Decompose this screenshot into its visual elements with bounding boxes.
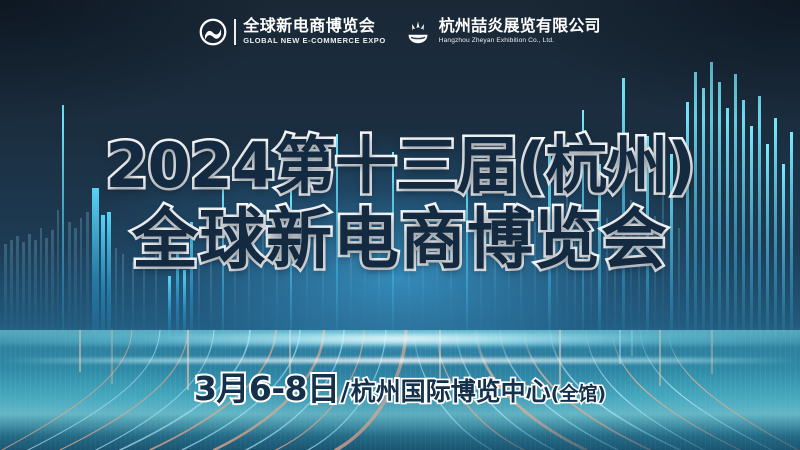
logo-expo[interactable]: 全球新电商博览会 GLOBAL NEW E-COMMERCE EXPO (199, 18, 386, 46)
horizon-glow (0, 332, 800, 346)
logo-zheyan-en: Hangzhou Zheyan Exhibition Co., Ltd. (439, 36, 601, 46)
event-hall: (全馆) (551, 383, 606, 405)
logo-expo-cn: 全球新电商博览会 (243, 18, 386, 35)
logo-zheyan-cn: 杭州喆炎展览有限公司 (439, 18, 601, 35)
poster-footer: 3月6-8日 / 杭州国际博览中心 (全馆) (0, 371, 800, 407)
footer-separator: / (341, 378, 350, 406)
sponsor-logo-row: 全球新电商博览会 GLOBAL NEW E-COMMERCE EXPO 杭州喆炎… (0, 18, 800, 46)
event-date: 3月6-8日 (194, 371, 340, 407)
globe-wave-logo-icon (199, 18, 227, 46)
poster-headline: 2024第十三届(杭州) 全球新电商博览会 (0, 130, 800, 278)
logo-expo-en: GLOBAL NEW E-COMMERCE EXPO (243, 36, 386, 46)
zheyan-flame-bowl-logo-icon (404, 18, 432, 46)
event-venue: 杭州国际博览中心 (351, 378, 551, 406)
headline-line-1: 2024第十三届(杭州) (0, 130, 800, 202)
horizon-line (0, 358, 800, 363)
logo-divider (234, 19, 236, 45)
logo-zheyan[interactable]: 杭州喆炎展览有限公司 Hangzhou Zheyan Exhibition Co… (404, 18, 601, 46)
headline-line-2: 全球新电商博览会 (0, 202, 800, 278)
expo-poster: 全球新电商博览会 GLOBAL NEW E-COMMERCE EXPO 杭州喆炎… (0, 0, 800, 450)
